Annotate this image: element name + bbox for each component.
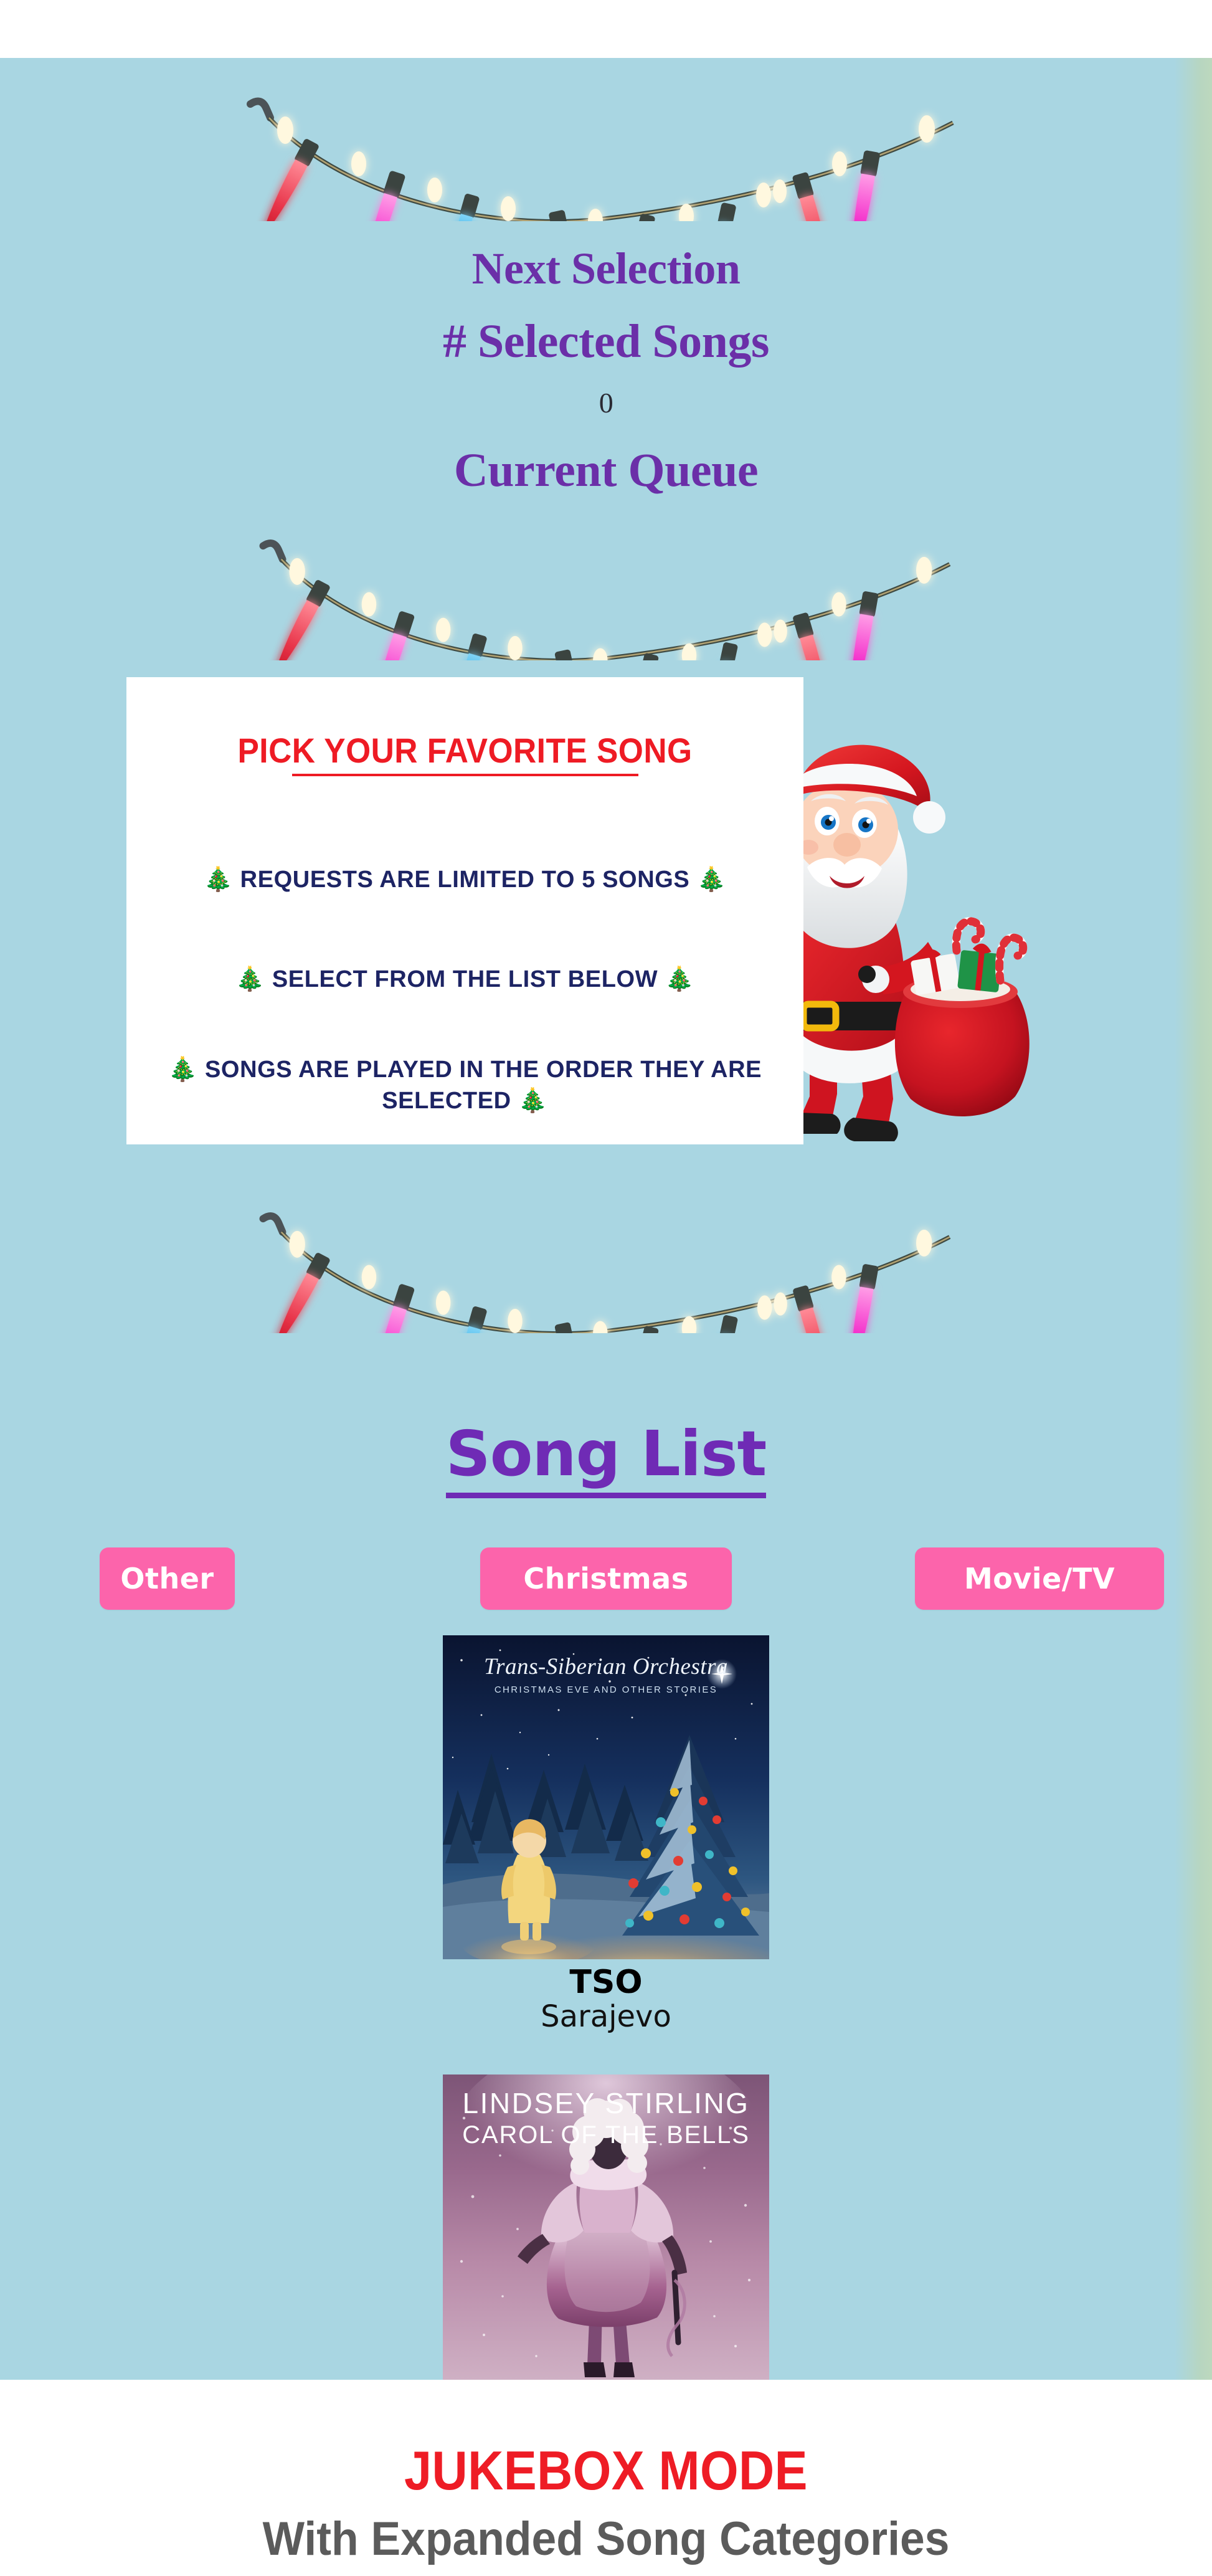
- song-title: Sarajevo: [443, 2000, 769, 2033]
- instruction-rule-1: 🎄 REQUESTS ARE LIMITED TO 5 SONGS 🎄: [126, 864, 803, 895]
- category-button-movie-tv[interactable]: Movie/TV: [915, 1547, 1164, 1610]
- caption-main-text: JUKEBOX MODE: [60, 2439, 1151, 2502]
- song-list-title: Song List: [0, 1417, 1212, 1490]
- next-selection-heading: Next Selection: [0, 243, 1212, 295]
- song-entry[interactable]: Trans-Siberian Orchestra CHRISTMAS EVE A…: [443, 1635, 769, 2033]
- category-button-christmas[interactable]: Christmas: [480, 1547, 732, 1610]
- album-art-lindsey-stirling[interactable]: LINDSEY STIRLING CAROL OF THE BELLS: [443, 2075, 769, 2380]
- caption-sub-text: With Expanded Song Categories: [36, 2512, 1175, 2566]
- instruction-rule-3: 🎄 SONGS ARE PLAYED IN THE ORDER THEY ARE…: [126, 1054, 803, 1116]
- santa-claus-icon: [772, 723, 1040, 1153]
- selected-songs-count: 0: [0, 386, 1212, 419]
- song-entry[interactable]: LINDSEY STIRLING CAROL OF THE BELLS: [443, 2075, 769, 2380]
- svg-text:CAROL OF THE BELLS: CAROL OF THE BELLS: [462, 2121, 749, 2149]
- instruction-card-title: PICK YOUR FAVORITE SONG: [153, 730, 776, 771]
- current-queue-heading: Current Queue: [0, 444, 1212, 498]
- song-artist: TSO: [443, 1964, 769, 2000]
- category-button-other[interactable]: Other: [100, 1547, 235, 1610]
- svg-text:Trans-Siberian Orchestra: Trans-Siberian Orchestra: [484, 1654, 728, 1680]
- svg-text:LINDSEY STIRLING: LINDSEY STIRLING: [463, 2087, 750, 2119]
- bottom-caption: JUKEBOX MODE With Expanded Song Categori…: [0, 2380, 1212, 2576]
- instruction-card-title-underline: [292, 774, 638, 776]
- instruction-rule-2: 🎄 SELECT FROM THE LIST BELOW 🎄: [126, 964, 803, 995]
- album-art-tso[interactable]: Trans-Siberian Orchestra CHRISTMAS EVE A…: [443, 1635, 769, 1959]
- song-list-title-text: Song List: [446, 1417, 767, 1498]
- svg-text:CHRISTMAS EVE AND OTHER STORIE: CHRISTMAS EVE AND OTHER STORIES: [495, 1685, 717, 1695]
- selected-songs-heading: # Selected Songs: [0, 315, 1212, 369]
- instruction-card: PICK YOUR FAVORITE SONG 🎄 REQUESTS ARE L…: [126, 677, 803, 1144]
- jukebox-page: Next Selection # Selected Songs 0 Curren…: [0, 0, 1212, 2576]
